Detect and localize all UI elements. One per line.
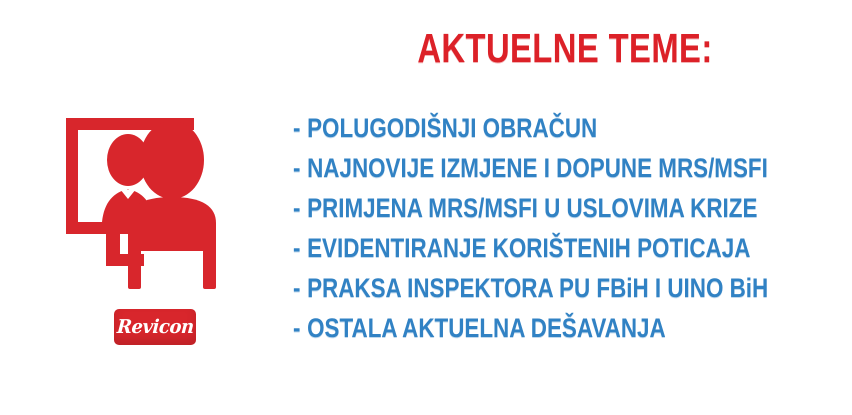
topic-label: PRAKSA INSPEKTORA PU FBiH I UINO BiH bbox=[307, 273, 768, 303]
topic-label: POLUGODIŠNJI OBRAČUN bbox=[307, 113, 597, 143]
topic-label: NAJNOVIJE IZMJENE I DOPUNE MRS/MSFI bbox=[307, 153, 768, 183]
bullet-icon: - bbox=[293, 193, 300, 223]
list-item: - PRIMJENA MRS/MSFI U USLOVIMA KRIZE bbox=[293, 188, 838, 228]
bullet-icon: - bbox=[293, 153, 300, 183]
foreground-leg-left bbox=[128, 247, 141, 289]
foreground-person-body bbox=[128, 197, 216, 251]
list-item: - NAJNOVIJE IZMJENE I DOPUNE MRS/MSFI bbox=[293, 148, 838, 188]
list-item: - POLUGODIŠNJI OBRAČUN bbox=[293, 108, 838, 148]
topic-label: PRIMJENA MRS/MSFI U USLOVIMA KRIZE bbox=[307, 193, 757, 223]
list-item: - EVIDENTIRANJE KORIŠTENIH POTICAJA bbox=[293, 228, 838, 268]
foreground-leg-right bbox=[203, 247, 216, 289]
page-title: AKTUELNE TEME: bbox=[353, 26, 777, 70]
slide-canvas: AKTUELNE TEME: bbox=[0, 0, 852, 415]
bullet-icon: - bbox=[293, 233, 300, 263]
list-item: - PRAKSA INSPEKTORA PU FBiH I UINO BiH bbox=[293, 268, 838, 308]
revicon-logo-badge: Revicon bbox=[114, 309, 196, 345]
bullet-icon: - bbox=[293, 313, 300, 343]
bullet-icon: - bbox=[293, 113, 300, 143]
revicon-logo-text: Revicon bbox=[116, 316, 194, 338]
topics-list: - POLUGODIŠNJI OBRAČUN - NAJNOVIJE IZMJE… bbox=[293, 108, 838, 348]
list-item: - OSTALA AKTUELNA DEŠAVANJA bbox=[293, 308, 838, 348]
topic-label: OSTALA AKTUELNA DEŠAVANJA bbox=[307, 313, 666, 343]
bullet-icon: - bbox=[293, 273, 300, 303]
presentation-monitor-person-icon bbox=[62, 112, 244, 292]
topic-label: EVIDENTIRANJE KORIŠTENIH POTICAJA bbox=[307, 233, 750, 263]
foreground-person-head bbox=[140, 121, 204, 199]
